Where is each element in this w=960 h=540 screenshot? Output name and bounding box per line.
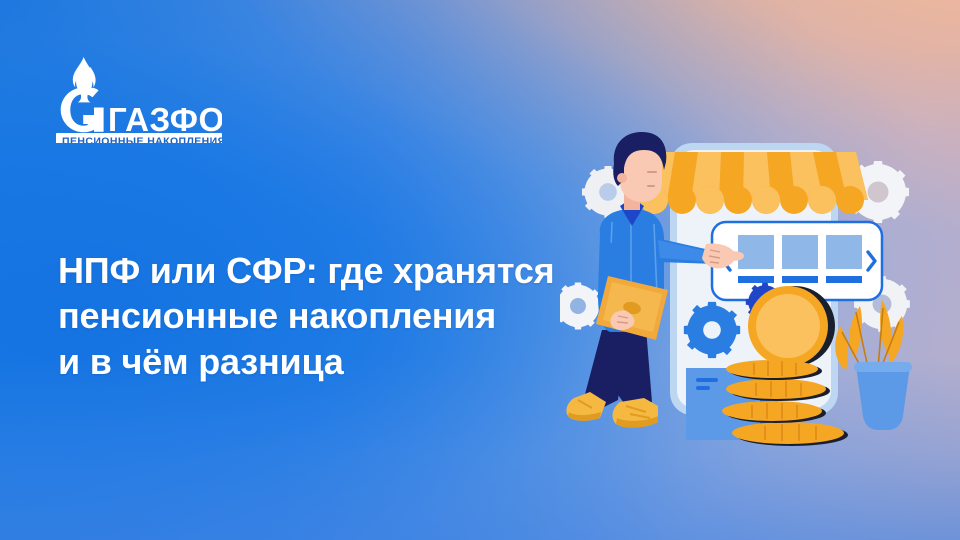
logo-tagline: ПЕНСИОННЫЕ НАКОПЛЕНИЯ (56, 133, 222, 143)
headline: НПФ или СФР: где хранятся пенсионные нак… (58, 248, 588, 384)
svg-text:ПЕНСИОННЫЕ НАКОПЛЕНИЯ: ПЕНСИОННЫЕ НАКОПЛЕНИЯ (62, 136, 222, 144)
promo-banner: ГАЗФОНД ПЕНСИОННЫЕ НАКОПЛЕНИЯ НПФ или СФ… (0, 0, 960, 540)
gazprom-flame-g-icon (61, 57, 104, 132)
headline-line-1: НПФ или СФР: где хранятся (58, 248, 588, 293)
headline-line-3: и в чём разница (58, 339, 588, 384)
awning (640, 152, 868, 214)
logo-wordmark: ГАЗФОНД (108, 101, 222, 138)
pension-storefront-illustration (560, 130, 960, 460)
gear-icon (684, 302, 740, 358)
headline-line-2: пенсионные накопления (58, 293, 588, 338)
gear-icon (560, 282, 602, 329)
gazfond-logo[interactable]: ГАЗФОНД ПЕНСИОННЫЕ НАКОПЛЕНИЯ (52, 57, 222, 143)
shoe (613, 398, 658, 428)
